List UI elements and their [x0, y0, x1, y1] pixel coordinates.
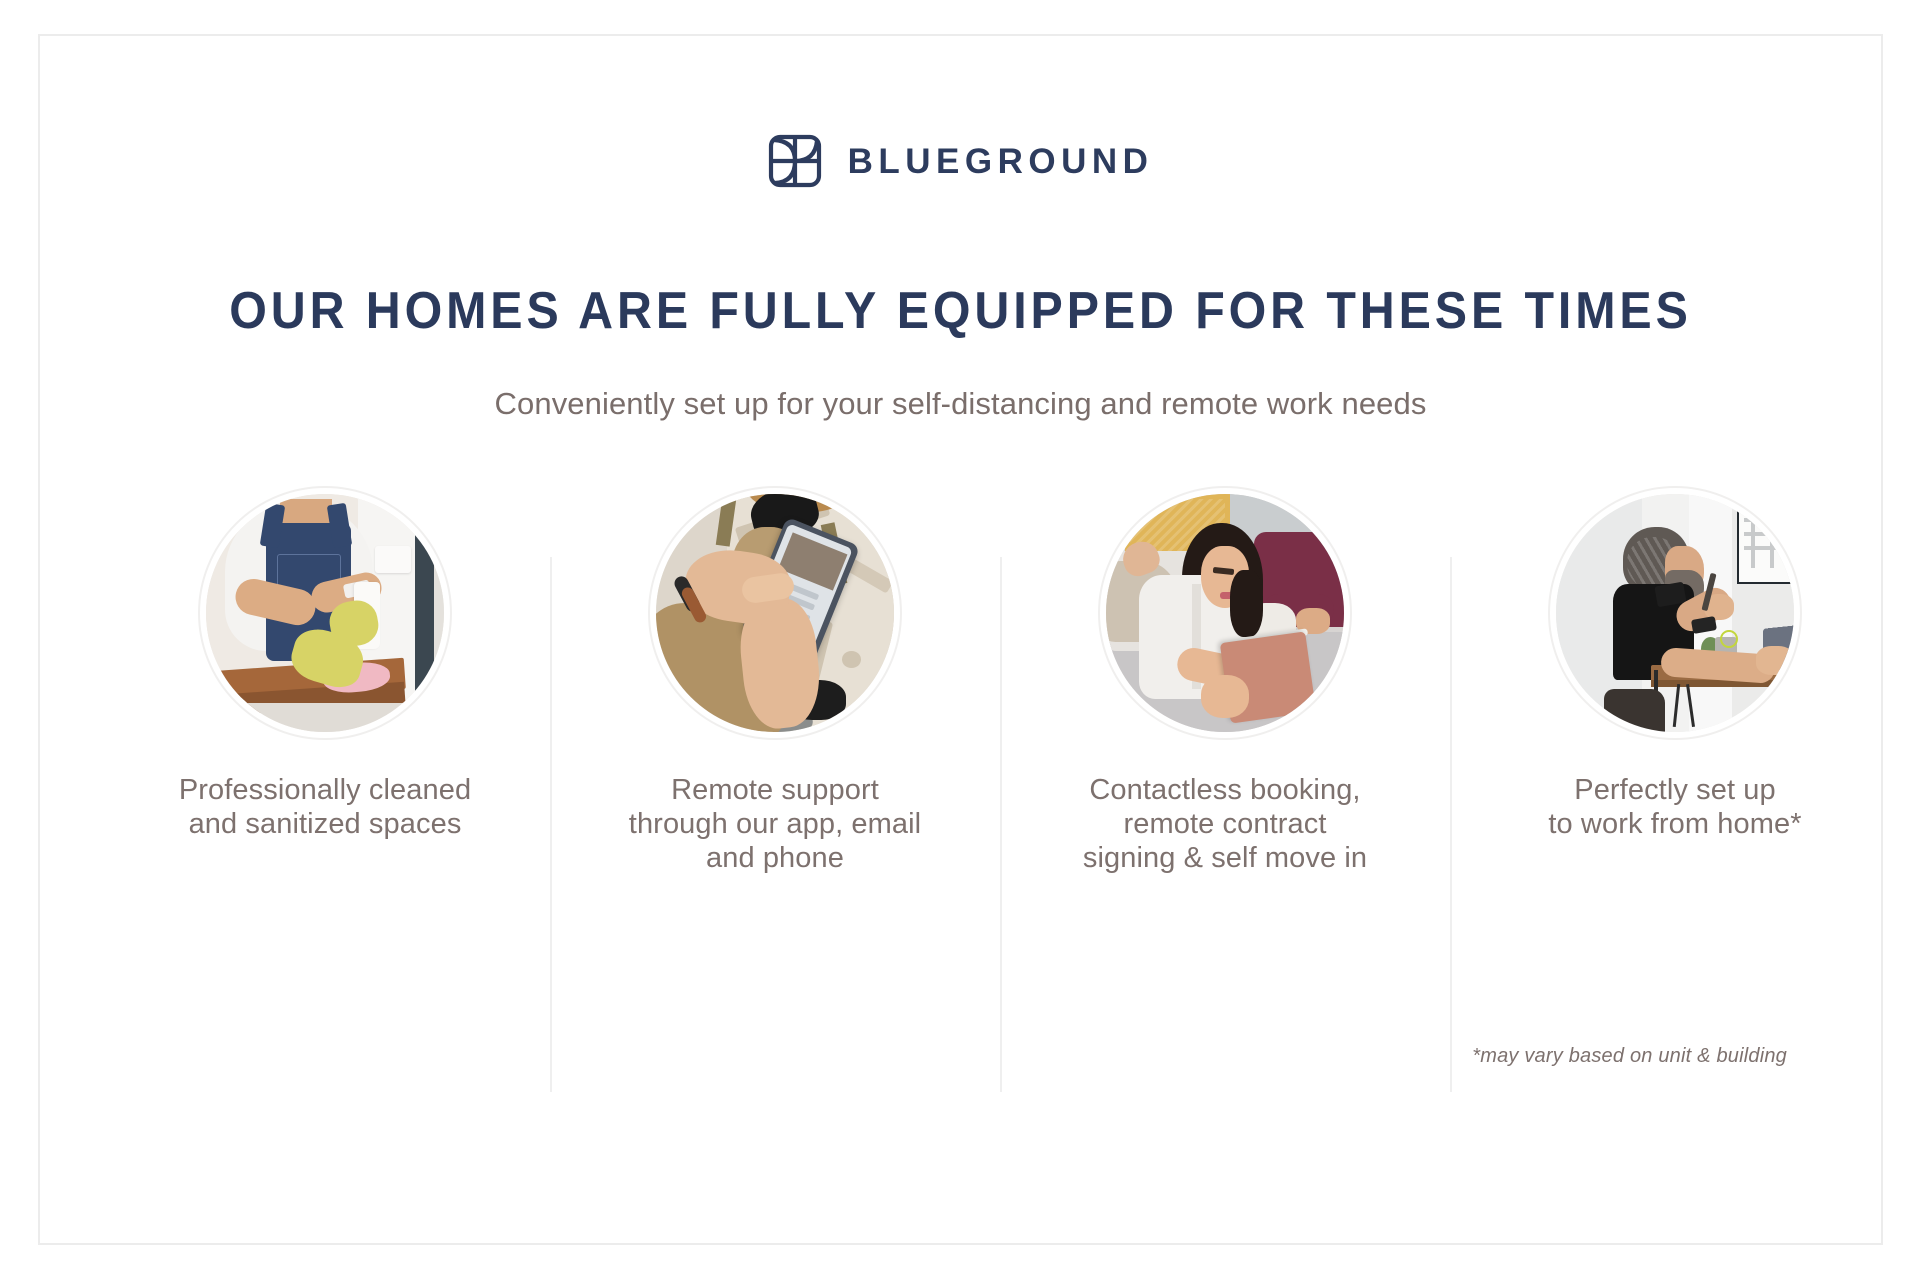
photo-ring-3: [1098, 486, 1352, 740]
feature-caption-1: Professionally cleaned and sanitized spa…: [179, 773, 471, 841]
caption-line: signing & self move in: [1083, 841, 1367, 875]
feature-caption-2: Remote support through our app, email an…: [629, 773, 921, 876]
caption-line: remote contract: [1083, 807, 1367, 841]
feature-columns: Professionally cleaned and sanitized spa…: [100, 536, 1900, 1106]
feature-column-1: Professionally cleaned and sanitized spa…: [100, 536, 550, 1106]
photo-ring-2: [648, 486, 902, 740]
blueground-square-logo-icon: [768, 134, 822, 188]
caption-line: and sanitized spaces: [179, 807, 471, 841]
poster-frame: BLUEGROUND OUR HOMES ARE FULLY EQUIPPED …: [38, 34, 1883, 1245]
page-title: OUR HOMES ARE FULLY EQUIPPED FOR THESE T…: [104, 281, 1816, 341]
photo-ring-1: [198, 486, 452, 740]
brand-wordmark: BLUEGROUND: [848, 144, 1154, 179]
caption-line: Professionally cleaned: [179, 773, 471, 807]
photo-contactless-booking-tablet: [1106, 494, 1344, 732]
feature-column-2: Remote support through our app, email an…: [550, 536, 1000, 1106]
feature-caption-3: Contactless booking, remote contract sig…: [1083, 773, 1367, 876]
caption-line: through our app, email: [629, 807, 921, 841]
photo-professional-cleaning: [206, 494, 444, 732]
caption-line: Contactless booking,: [1083, 773, 1367, 807]
photo-remote-support-phone: [656, 494, 894, 732]
footnote-disclaimer: *may vary based on unit & building: [1472, 1045, 1787, 1068]
caption-line: Remote support: [629, 773, 921, 807]
brand-logo: BLUEGROUND: [40, 134, 1881, 188]
caption-line: and phone: [629, 841, 921, 875]
photo-work-from-home-desk: [1556, 494, 1794, 732]
caption-line: to work from home*: [1548, 807, 1801, 841]
photo-ring-4: [1548, 486, 1802, 740]
feature-column-3: Contactless booking, remote contract sig…: [1000, 536, 1450, 1106]
caption-line: Perfectly set up: [1548, 773, 1801, 807]
feature-caption-4: Perfectly set up to work from home*: [1548, 773, 1801, 841]
page-subtitle: Conveniently set up for your self-distan…: [40, 386, 1881, 422]
feature-column-4: Perfectly set up to work from home*: [1450, 536, 1900, 1106]
